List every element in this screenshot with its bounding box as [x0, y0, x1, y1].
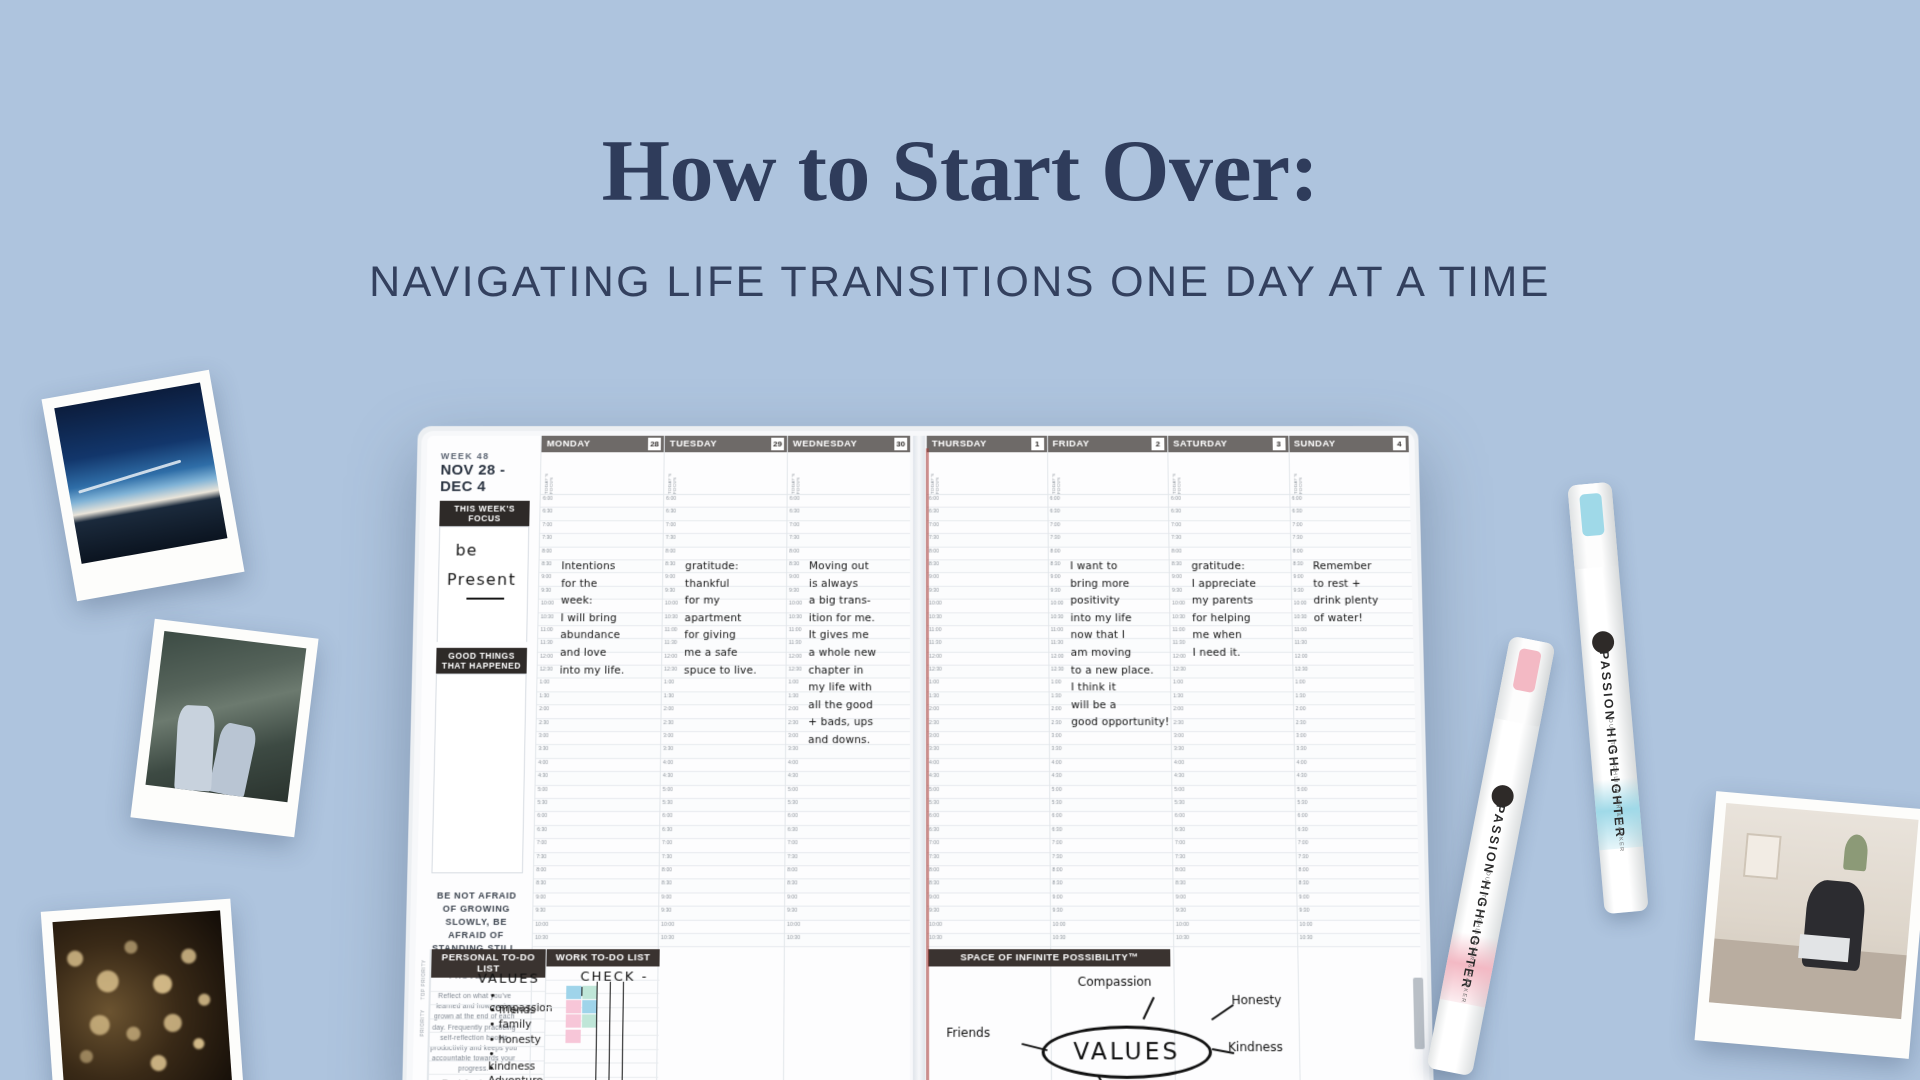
- day-name: MONDAY: [547, 439, 649, 450]
- time-slot: 10:30: [1051, 934, 1174, 948]
- time-slot-label: 3:00: [1051, 733, 1061, 739]
- time-slot-label: 10:30: [929, 935, 942, 941]
- time-slot-label: 1:00: [788, 680, 798, 686]
- day-entry-handwriting: and love: [560, 647, 607, 659]
- time-slot-label: 10:30: [1294, 614, 1307, 620]
- time-slot-label: 5:00: [1297, 787, 1307, 793]
- time-slot-label: 6:00: [1297, 813, 1307, 819]
- time-slot-label: 11:30: [789, 640, 802, 646]
- time-slot: 10:00: [539, 600, 662, 613]
- time-slot: 1:00: [662, 679, 786, 692]
- plant: [1843, 834, 1869, 872]
- time-slot: 5:00: [535, 786, 659, 799]
- time-slot: 7:30: [787, 534, 910, 547]
- time-slot: 3:00: [1172, 732, 1294, 745]
- space-of-infinite-possibility: SPACE OF INFINITE POSSIBILITY™ VALUES Co…: [928, 949, 1172, 1080]
- time-slot-list: 6:006:307:007:308:008:309:009:3010:0010:…: [659, 495, 787, 947]
- time-slot-label: 8:30: [1172, 561, 1182, 567]
- bokeh-light: [152, 974, 172, 994]
- time-slot-label: 11:30: [1294, 640, 1307, 646]
- time-slot-label: 6:00: [1050, 496, 1060, 502]
- time-slot-label: 8:30: [536, 881, 546, 887]
- time-slot-label: 6:30: [662, 827, 672, 833]
- time-slot-label: 11:00: [1294, 627, 1307, 633]
- time-slot-label: 10:00: [1299, 921, 1312, 927]
- time-slot: 1:00: [1293, 679, 1414, 692]
- time-slot: 9:30: [1174, 907, 1297, 921]
- time-slot: 10:30: [533, 934, 658, 948]
- time-slot-label: 9:30: [1293, 588, 1303, 594]
- time-slot: 9:00: [534, 893, 659, 907]
- time-slot-label: 4:30: [788, 773, 798, 779]
- time-slot-label: 6:00: [543, 496, 553, 502]
- time-slot: 6:30: [1173, 826, 1295, 839]
- day-entry-handwriting: my life with: [808, 682, 872, 694]
- time-slot-label: 7:00: [1050, 522, 1060, 528]
- time-slot-label: 11:30: [929, 640, 942, 646]
- time-slot-label: 6:00: [788, 813, 798, 819]
- time-slot: 6:30: [1296, 826, 1418, 839]
- time-slot: 12:30: [1293, 666, 1414, 679]
- time-slot: 8:30: [1050, 880, 1172, 894]
- time-slot-label: 7:30: [1298, 854, 1308, 860]
- time-slot: 7:30: [785, 853, 910, 866]
- time-slot-label: 8:00: [1050, 548, 1060, 554]
- page-title: How to Start Over:: [0, 128, 1920, 216]
- time-slot-label: 3:30: [788, 746, 798, 752]
- time-slot-label: 6:00: [790, 496, 800, 502]
- todays-focus-label: TODAY'S FOCUS: [544, 459, 554, 494]
- time-slot-label: 3:30: [1296, 746, 1306, 752]
- time-slot-label: 12:00: [929, 653, 942, 659]
- time-slot: 6:30: [1290, 508, 1410, 521]
- passion-highlighter-pen-blue: PASSION HIGHLIGHTER DUAL TIP HIGHLIGHTER…: [1567, 482, 1648, 914]
- time-slot: 10:00: [927, 600, 1048, 613]
- time-slot: 3:00: [536, 732, 660, 745]
- time-slot-label: 10:00: [787, 921, 800, 927]
- todays-focus-label: TODAY'S FOCUS: [930, 459, 940, 494]
- day-entry-handwriting: chapter in: [808, 664, 863, 676]
- bokeh-light: [193, 1038, 205, 1050]
- day-entry-handwriting: apartment: [685, 612, 742, 624]
- time-slot: 4:00: [536, 759, 660, 772]
- time-slot-label: 11:00: [665, 627, 678, 633]
- time-slot-label: 9:30: [929, 908, 939, 914]
- time-slot: 6:00: [535, 812, 659, 825]
- time-slot-label: 8:30: [1299, 881, 1309, 887]
- time-slot: 8:30: [534, 880, 659, 894]
- time-slot-label: 11:30: [1051, 640, 1064, 646]
- focus-handwriting-line2: Present: [447, 570, 517, 589]
- time-slot: 10:00: [663, 600, 786, 613]
- left-bottom-section: TOP PRIORITY PRIORITY PERSONAL TO-DO LIS…: [414, 949, 660, 1080]
- time-slot-label: 1:30: [1295, 693, 1305, 699]
- time-slot-label: 7:00: [1175, 840, 1185, 846]
- time-slot-label: 2:30: [1296, 720, 1306, 726]
- time-slot-label: 8:30: [1052, 881, 1062, 887]
- time-slot-label: 8:00: [1298, 867, 1308, 873]
- time-slot: 6:00: [927, 495, 1047, 508]
- todays-focus-box: TODAY'S FOCUS: [788, 452, 910, 495]
- day-header-sunday: SUNDAY4: [1289, 436, 1409, 452]
- time-slot: 8:30: [1173, 880, 1295, 894]
- time-slot-label: 9:30: [535, 908, 545, 914]
- time-slot-label: 7:00: [788, 840, 798, 846]
- highlighter-swatch: [582, 1000, 597, 1013]
- time-slot-label: 2:00: [1173, 707, 1183, 713]
- time-slot: 7:00: [787, 521, 910, 534]
- time-slot-label: 3:30: [929, 746, 939, 752]
- time-slot-label: 7:30: [536, 854, 546, 860]
- ruled-line: [545, 1022, 659, 1036]
- time-slot-label: 10:00: [929, 921, 942, 927]
- time-slot: 1:30: [1293, 692, 1414, 705]
- day-entry-handwriting: gratitude:: [1191, 560, 1245, 572]
- time-slot: 7:30: [1296, 853, 1418, 866]
- day-name: SUNDAY: [1294, 439, 1393, 450]
- mindmap-center: VALUES: [1042, 1026, 1213, 1079]
- time-slot: 8:00: [660, 866, 785, 879]
- day-entry-handwriting: positivity: [1070, 595, 1120, 607]
- time-slot: 8:00: [787, 547, 910, 560]
- time-slot-label: 3:30: [1174, 746, 1184, 752]
- time-slot-label: 4:00: [929, 760, 939, 766]
- bokeh-light: [89, 1014, 110, 1035]
- highlighter-swatch: [566, 1000, 581, 1013]
- time-slot: 10:00: [1174, 920, 1297, 934]
- planner-left-page: WEEK 48 NOV 28 - DEC 4 THIS WEEK'S FOCUS…: [412, 436, 910, 1080]
- time-slot-label: 9:30: [1052, 908, 1062, 914]
- day-entry-handwriting: I appreciate: [1192, 578, 1256, 590]
- polaroid-photo-desk: [1695, 791, 1920, 1059]
- time-slot: 9:30: [785, 907, 910, 921]
- good-things-box: [431, 674, 526, 874]
- time-slot-label: 8:30: [1293, 561, 1303, 567]
- time-slot: 7:00: [1290, 521, 1410, 534]
- time-slot-label: 6:00: [662, 813, 672, 819]
- priority-label: PRIORITY: [419, 1010, 425, 1037]
- time-slot-label: 6:30: [1171, 509, 1181, 515]
- time-slot: 1:30: [927, 692, 1048, 705]
- day-entry-handwriting: is always: [809, 578, 858, 590]
- time-slot-label: 1:30: [929, 693, 939, 699]
- time-slot: 4:00: [927, 759, 1049, 772]
- day-header-tuesday: TUESDAY29: [665, 436, 787, 452]
- time-slot-list: 6:006:307:007:308:008:309:009:3010:0010:…: [927, 495, 1050, 947]
- focus-underline: [466, 598, 504, 600]
- time-slot-label: 4:00: [1051, 760, 1061, 766]
- airplane-wing-over-earth-image: [54, 383, 227, 564]
- highlighter-swatch: [565, 1015, 580, 1028]
- time-slot-label: 10:30: [1300, 935, 1313, 941]
- day-entry-handwriting: to rest +: [1313, 578, 1361, 590]
- day-entry-handwriting: me a safe: [684, 647, 738, 659]
- time-slot-label: 9:00: [536, 894, 546, 900]
- time-slot-label: 8:00: [536, 867, 546, 873]
- time-slot-label: 6:30: [537, 827, 547, 833]
- time-slot-label: 9:30: [789, 588, 799, 594]
- time-slot-label: 3:30: [663, 746, 673, 752]
- time-slot: 3:30: [786, 745, 910, 758]
- day-number-badge: 28: [648, 438, 661, 451]
- planner-right-page: THURSDAY1TODAY'S FOCUS6:006:307:007:308:…: [926, 436, 1424, 1080]
- time-slot: 6:30: [540, 508, 663, 521]
- time-slot-label: 3:00: [663, 733, 673, 739]
- time-slot-label: 12:30: [1295, 667, 1308, 673]
- time-slot: 8:00: [1296, 866, 1418, 879]
- time-slot-label: 10:00: [1053, 921, 1066, 927]
- time-slot-label: 9:00: [1172, 574, 1182, 580]
- time-slot-label: 4:30: [1052, 773, 1062, 779]
- time-slot-label: 9:00: [787, 894, 797, 900]
- day-entry-handwriting: I will bring: [560, 612, 617, 624]
- time-slot-label: 8:30: [1175, 881, 1185, 887]
- day-entry-handwriting: will be a: [1071, 699, 1116, 711]
- work-todo-header: WORK TO-DO LIST: [546, 949, 660, 966]
- planner-notebook: WEEK 48 NOV 28 - DEC 4 THIS WEEK'S FOCUS…: [410, 436, 1426, 1080]
- bokeh-light: [198, 993, 211, 1006]
- time-slot-label: 11:00: [540, 627, 553, 633]
- time-slot-label: 12:30: [789, 667, 802, 673]
- time-slot-list: 6:006:307:007:308:008:309:009:3010:0010:…: [785, 495, 910, 947]
- time-slot: 7:30: [540, 534, 663, 547]
- day-header-wednesday: WEDNESDAY30: [788, 436, 910, 452]
- day-entry-handwriting: a big trans-: [809, 595, 871, 607]
- time-slot: 7:00: [664, 521, 787, 534]
- day-entry-handwriting: into my life.: [560, 664, 625, 676]
- time-slot-label: 7:30: [1175, 854, 1185, 860]
- time-slot-label: 7:30: [542, 535, 552, 541]
- time-slot: 9:30: [659, 907, 784, 921]
- notebook-spine: [913, 436, 925, 1080]
- time-slot: 10:00: [1297, 920, 1420, 934]
- time-slot-label: 2:30: [1051, 720, 1061, 726]
- time-slot: 12:30: [1171, 666, 1292, 679]
- time-slot: 6:00: [1169, 495, 1289, 508]
- time-slot: 7:00: [785, 839, 909, 852]
- time-slot: 8:00: [927, 547, 1047, 560]
- time-slot: 8:00: [1048, 547, 1168, 560]
- time-slot: 7:30: [664, 534, 787, 547]
- time-slot-label: 7:00: [789, 522, 799, 528]
- time-slot-label: 1:00: [664, 680, 674, 686]
- time-slot-list: 6:006:307:007:308:008:309:009:3010:0010:…: [1048, 495, 1173, 947]
- time-slot: 12:00: [1293, 652, 1414, 665]
- time-slot-label: 10:00: [1176, 921, 1189, 927]
- good-things-label: GOOD THINGS THAT HAPPENED: [436, 648, 527, 674]
- day-name: FRIDAY: [1052, 439, 1151, 450]
- time-slot-label: 12:00: [789, 653, 802, 659]
- time-slot: 7:30: [660, 853, 785, 866]
- time-slot-label: 7:30: [662, 854, 672, 860]
- time-slot: 6:30: [664, 508, 787, 521]
- time-slot-label: 8:30: [542, 561, 552, 567]
- time-slot-label: 1:30: [1173, 693, 1183, 699]
- time-slot-label: 5:30: [1174, 800, 1184, 806]
- time-slot-label: 2:30: [788, 720, 798, 726]
- time-slot-label: 10:30: [1176, 935, 1189, 941]
- time-slot: 8:00: [927, 866, 1049, 879]
- time-slot-label: 6:00: [1052, 813, 1062, 819]
- time-slot-label: 9:00: [929, 894, 939, 900]
- time-slot-label: 12:00: [664, 653, 677, 659]
- day-entry-handwriting: me when: [1192, 630, 1242, 642]
- time-slot-label: 9:30: [1176, 908, 1186, 914]
- todays-focus-box: TODAY'S FOCUS: [541, 452, 664, 495]
- time-slot-label: 9:00: [929, 574, 939, 580]
- day-entry-handwriting: to a new place.: [1071, 664, 1154, 676]
- time-slot-label: 2:30: [1174, 720, 1184, 726]
- time-slot: 9:00: [539, 573, 662, 586]
- time-slot-label: 8:00: [929, 867, 939, 873]
- time-slot-label: 8:30: [662, 881, 672, 887]
- time-slot: 5:30: [1050, 799, 1172, 812]
- time-slot-label: 3:30: [1051, 746, 1061, 752]
- time-slot: 1:30: [537, 692, 661, 705]
- day-header-monday: MONDAY28: [542, 436, 664, 452]
- time-slot-label: 1:30: [664, 693, 674, 699]
- time-slot-label: 12:00: [1295, 653, 1308, 659]
- time-slot: 3:30: [1294, 745, 1416, 758]
- time-slot-label: 12:30: [1173, 667, 1186, 673]
- time-slot: 3:00: [927, 732, 1048, 745]
- time-slot: 10:30: [1174, 934, 1297, 948]
- time-slot: 5:30: [786, 799, 910, 812]
- time-slot-label: 5:30: [788, 800, 798, 806]
- infinite-space-header: SPACE OF INFINITE POSSIBILITY™: [928, 949, 1170, 966]
- time-slot: 9:00: [785, 893, 910, 907]
- time-slot: 5:00: [1050, 786, 1172, 799]
- page-subtitle: NAVIGATING LIFE TRANSITIONS ONE DAY AT A…: [0, 258, 1920, 307]
- time-slot-label: 4:30: [929, 773, 939, 779]
- time-slot-label: 3:00: [1296, 733, 1306, 739]
- time-slot-label: 6:00: [537, 813, 547, 819]
- time-slot-label: 7:30: [1171, 535, 1181, 541]
- time-slot-label: 5:30: [1052, 800, 1062, 806]
- time-slot: 5:00: [927, 786, 1049, 799]
- time-slot: 4:00: [786, 759, 910, 772]
- time-slot-label: 6:00: [929, 813, 939, 819]
- time-slot: 2:30: [927, 719, 1048, 732]
- time-slot: 8:00: [663, 547, 786, 560]
- day-number-badge: 30: [894, 438, 907, 451]
- time-slot: 7:30: [534, 853, 659, 866]
- day-entry-handwriting: ition for me.: [809, 612, 875, 624]
- time-slot-label: 11:00: [789, 627, 802, 633]
- time-slot: 8:00: [534, 866, 659, 879]
- time-slot-label: 8:00: [929, 548, 939, 554]
- time-slot-label: 4:00: [538, 760, 548, 766]
- time-slot-label: 10:30: [535, 935, 548, 941]
- time-slot-list: 6:006:307:007:308:008:309:009:3010:0010:…: [1290, 495, 1421, 947]
- time-slot-label: 6:30: [790, 509, 800, 515]
- time-slot-label: 4:30: [663, 773, 673, 779]
- time-slot-label: 7:00: [1298, 840, 1308, 846]
- time-slot: 9:30: [927, 907, 1049, 921]
- time-slot-label: 2:00: [539, 707, 549, 713]
- time-slot-label: 7:30: [1052, 854, 1062, 860]
- time-slot: 7:00: [1296, 839, 1418, 852]
- time-slot: 7:30: [1291, 534, 1412, 547]
- page-bookmark-tab: [1413, 978, 1425, 1049]
- time-slot-label: 3:00: [1174, 733, 1184, 739]
- this-weeks-focus-box: be Present: [437, 526, 530, 642]
- bokeh-light: [124, 940, 138, 954]
- time-slot-label: 1:00: [1295, 680, 1305, 686]
- time-slot-label: 5:30: [929, 800, 939, 806]
- time-slot-label: 2:00: [929, 707, 939, 713]
- time-slot-label: 4:00: [1174, 760, 1184, 766]
- time-slot-label: 8:30: [665, 561, 675, 567]
- week-range: NOV 28 - DEC 4: [440, 462, 531, 495]
- time-slot: 7:30: [1173, 853, 1295, 866]
- time-slot: 2:00: [1171, 706, 1292, 719]
- time-slot-label: 9:30: [665, 588, 675, 594]
- time-slot: 10:00: [785, 920, 910, 934]
- time-slot-list: 6:006:307:007:308:008:309:009:3010:0010:…: [1169, 495, 1297, 947]
- time-slot: 2:30: [661, 719, 785, 732]
- day-entry-handwriting: for helping: [1192, 612, 1251, 624]
- day-entry-handwriting: for the: [561, 578, 597, 590]
- time-slot: 8:30: [1297, 880, 1419, 894]
- time-slot: 4:00: [1294, 759, 1416, 772]
- time-slot-label: 7:00: [1171, 522, 1181, 528]
- hero-banner: How to Start Over: NAVIGATING LIFE TRANS…: [0, 0, 1920, 1080]
- time-slot: 12:30: [927, 666, 1048, 679]
- personal-todo-item: • friends: [489, 1004, 535, 1016]
- time-slot: 5:30: [660, 799, 784, 812]
- time-slot: 8:30: [927, 560, 1047, 573]
- time-slot-label: 9:00: [541, 574, 551, 580]
- time-slot-label: 11:00: [1172, 627, 1185, 633]
- day-entry-handwriting: gratitude:: [685, 560, 739, 572]
- day-entry-handwriting: Moving out: [809, 560, 869, 572]
- time-slot: 2:00: [662, 706, 786, 719]
- time-slot-label: 10:30: [929, 614, 942, 620]
- time-slot-label: 10:00: [1051, 601, 1064, 607]
- time-slot: 7:00: [534, 839, 659, 852]
- day-column-tuesday: TUESDAY29TODAY'S FOCUS6:006:307:007:308:…: [656, 436, 787, 1080]
- time-slot: 5:00: [786, 786, 910, 799]
- time-slot-label: 7:30: [787, 854, 797, 860]
- time-slot: 6:00: [927, 812, 1049, 825]
- pen-nib-blue: [1580, 493, 1605, 537]
- time-slot: 9:30: [1297, 907, 1420, 921]
- time-slot: 3:00: [1294, 732, 1416, 745]
- time-slot-label: 8:00: [1175, 867, 1185, 873]
- day-column-saturday: SATURDAY3TODAY'S FOCUS6:006:307:007:308:…: [1167, 436, 1299, 1080]
- polaroid-photo-feet: [130, 619, 318, 838]
- time-slot: 7:00: [927, 839, 1049, 852]
- laptop: [1798, 934, 1850, 962]
- time-slot-label: 6:00: [1171, 496, 1181, 502]
- time-slot: 5:00: [1295, 786, 1417, 799]
- time-slot-label: 9:30: [541, 588, 551, 594]
- bokeh-lights-image: [52, 910, 231, 1080]
- day-name: SATURDAY: [1173, 439, 1272, 450]
- time-slot-label: 10:00: [535, 921, 548, 927]
- personal-todo-list: PERSONAL TO-DO LIST VALUES • compassion•…: [428, 949, 546, 1080]
- time-slot-label: 7:30: [1050, 535, 1060, 541]
- time-slot: 7:00: [1173, 839, 1295, 852]
- time-slot-label: 9:00: [1299, 894, 1309, 900]
- time-slot: 7:30: [927, 853, 1049, 866]
- day-name: THURSDAY: [932, 439, 1031, 450]
- mindmap-connector-compassion: [1143, 997, 1155, 1020]
- day-entry-handwriting: for my: [685, 595, 720, 607]
- time-slot-label: 11:00: [929, 627, 942, 633]
- time-slot: 5:30: [1172, 799, 1294, 812]
